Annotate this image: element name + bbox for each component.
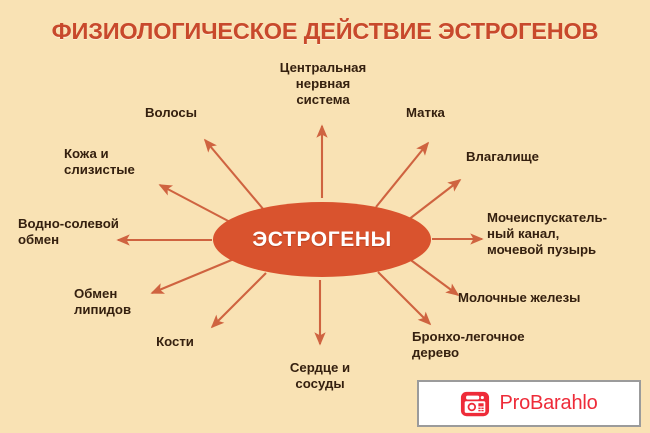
label-water-salt-metabolism: Водно-солевой обмен <box>18 216 158 248</box>
arrow-breast <box>408 258 458 295</box>
arrow-bones <box>212 273 266 327</box>
poster-canvas: ФИЗИОЛОГИЧЕСКОЕ ДЕЙСТВИЕ ЭСТРОГЕНОВ ЭСТР… <box>0 0 650 433</box>
arrow-uterus <box>376 143 428 207</box>
label-urinary-tract: Мочеиспускатель- ный канал, мочевой пузы… <box>487 210 647 258</box>
label-heart-vessels: Сердце и сосуды <box>262 360 378 392</box>
label-hair: Волосы <box>126 105 216 121</box>
label-bronchopulmonary-tree: Бронхо-легочное дерево <box>412 329 572 361</box>
label-mammary-glands: Молочные железы <box>458 290 638 306</box>
label-uterus: Матка <box>406 105 496 121</box>
label-skin-mucosa: Кожа и слизистые <box>64 146 184 178</box>
center-node-label: ЭСТРОГЕНЫ <box>252 228 392 252</box>
arrow-vagina <box>408 180 460 220</box>
label-vagina: Влагалище <box>466 149 606 165</box>
watermark-brand-text: ProBarahlo <box>499 392 597 415</box>
page-title: ФИЗИОЛОГИЧЕСКОЕ ДЕЙСТВИЕ ЭСТРОГЕНОВ <box>0 18 650 45</box>
arrow-skin <box>160 185 232 223</box>
arrow-bronchi <box>378 272 430 324</box>
arrow-hair <box>205 140 264 210</box>
label-lipid-metabolism: Обмен липидов <box>74 286 174 318</box>
label-bones: Кости <box>130 334 220 350</box>
watermark-logo[interactable]: ProBarahlo <box>417 380 641 427</box>
center-node-estrogens: ЭСТРОГЕНЫ <box>213 202 431 277</box>
label-central-nervous-system: Центральная нервная система <box>258 60 388 108</box>
camera-icon <box>460 389 490 419</box>
